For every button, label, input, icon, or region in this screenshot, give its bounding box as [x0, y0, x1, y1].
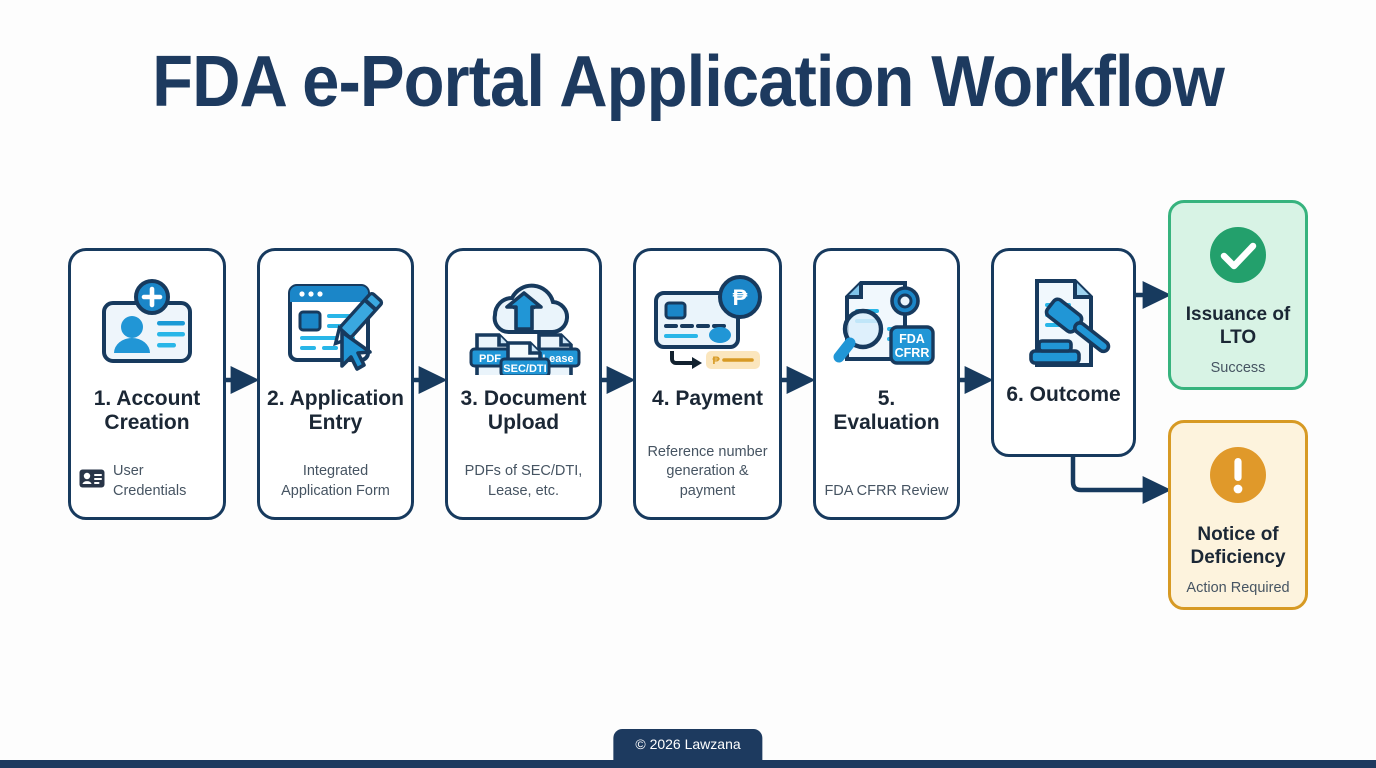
- doc-label-pdf: PDF: [479, 353, 501, 365]
- step-sublabel: PDFs of SEC/DTI, Lease, etc.: [456, 462, 591, 501]
- exclamation-circle-icon: [1208, 445, 1268, 510]
- step-sublabel: Integrated Application Form: [268, 462, 403, 501]
- footer-bar: [0, 760, 1376, 768]
- document-magnifier-icon: FDA CFRR: [816, 265, 957, 381]
- cloud-upload-documents-icon: PDF Lease SEC/DTI: [448, 265, 599, 381]
- badge-line-1: FDA: [899, 332, 925, 346]
- browser-form-pencil-icon: [260, 265, 411, 381]
- step-sublabel: FDA CFRR Review: [824, 482, 949, 501]
- id-card-add-icon: [71, 265, 223, 381]
- page-title: FDA e-Portal Application Workflow: [48, 44, 1328, 122]
- step-card-document-upload[interactable]: PDF Lease SEC/DTI 3. Document Upload PDF…: [445, 248, 602, 520]
- step-sublabel-wrap: User Credentials: [79, 462, 215, 501]
- step-title: 1. Account Creation: [77, 387, 217, 434]
- workflow-diagram: FDA e-Portal Application Workflow: [0, 0, 1376, 768]
- step-card-account-creation[interactable]: 1. Account Creation User Credentials: [68, 248, 226, 520]
- badge-line-2: CFRR: [894, 346, 929, 360]
- step-card-application-entry[interactable]: 2. Application Entry Integrated Applicat…: [257, 248, 414, 520]
- credit-card-peso-icon: ₱ ₱: [636, 265, 779, 381]
- step-card-evaluation[interactable]: FDA CFRR 5. Evaluation FDA CFRR Review: [813, 248, 960, 520]
- id-badge-icon: [79, 469, 105, 494]
- outcome-status: Success: [1211, 360, 1266, 376]
- outcome-title: Notice of Deficiency: [1171, 524, 1305, 570]
- outcome-status: Action Required: [1186, 580, 1289, 596]
- footer-copyright: © 2026 Lawzana: [613, 729, 762, 760]
- outcome-card-issuance-of-lto[interactable]: Issuance of LTO Success: [1168, 200, 1308, 390]
- step-title: 6. Outcome: [1000, 383, 1127, 407]
- step-sublabel: User Credentials: [113, 462, 215, 501]
- step-card-outcome[interactable]: 6. Outcome: [991, 248, 1136, 457]
- svg-text:₱: ₱: [732, 285, 747, 310]
- outcome-title: Issuance of LTO: [1171, 304, 1305, 350]
- outcome-card-notice-of-deficiency[interactable]: Notice of Deficiency Action Required: [1168, 420, 1308, 610]
- svg-text:₱: ₱: [712, 355, 720, 367]
- check-circle-icon: [1208, 225, 1268, 290]
- gavel-document-icon: [994, 265, 1133, 381]
- doc-label-secdti: SEC/DTI: [503, 363, 546, 375]
- step-title: 4. Payment: [642, 387, 773, 411]
- step-title: 2. Application Entry: [266, 387, 405, 434]
- step-card-payment[interactable]: ₱ ₱ 4. Payment Reference number generati…: [633, 248, 782, 520]
- step-title: 3. Document Upload: [454, 387, 593, 434]
- step-sublabel: Reference number generation & payment: [644, 443, 771, 501]
- step-title: 5. Evaluation: [822, 387, 951, 434]
